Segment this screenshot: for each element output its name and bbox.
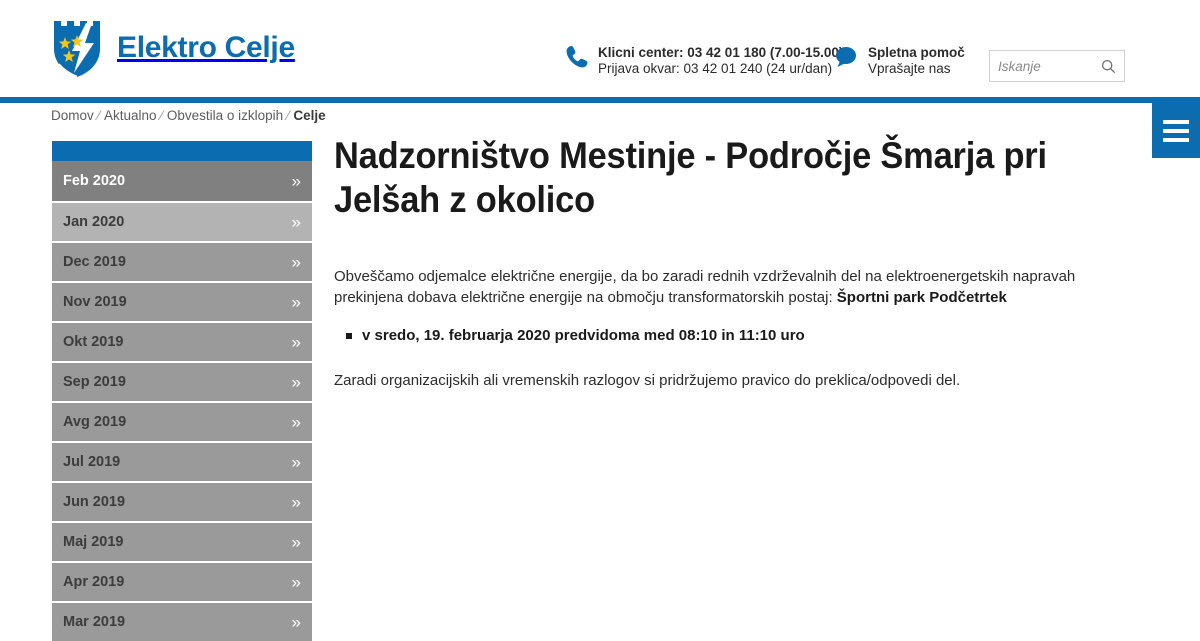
hamburger-bar-2 — [1163, 129, 1189, 133]
breadcrumb-separator: ⁄ — [161, 108, 163, 123]
breadcrumb-item-domov[interactable]: Domov — [51, 108, 94, 123]
intro-paragraph: Obveščamo odjemalce električne energije,… — [334, 266, 1146, 309]
sidebar-item-jun-2019[interactable]: Jun 2019» — [52, 481, 312, 521]
search-box[interactable] — [989, 50, 1125, 82]
sidebar-item-mar-2019[interactable]: Mar 2019» — [52, 601, 312, 641]
double-chevron-right-icon: » — [292, 294, 301, 311]
search-submit-button[interactable] — [1094, 51, 1122, 81]
online-help-title: Spletna pomoč — [868, 45, 965, 61]
hamburger-menu-button[interactable] — [1152, 103, 1200, 158]
chat-bubble-icon — [834, 44, 858, 70]
sidebar-item-label: Feb 2020 — [52, 173, 125, 189]
list-item: v sredo, 19. februarja 2020 predvidoma m… — [362, 325, 1146, 347]
sidebar-item-label: Dec 2019 — [52, 254, 126, 270]
phone-icon — [564, 44, 588, 70]
double-chevron-right-icon: » — [292, 574, 301, 591]
fault-report-line: Prijava okvar: 03 42 01 240 (24 ur/dan) — [598, 61, 843, 77]
elektro-celje-shield-icon — [50, 17, 108, 79]
header-blue-divider — [0, 97, 1200, 103]
double-chevron-right-icon: » — [292, 374, 301, 391]
sidebar-item-jan-2020[interactable]: Jan 2020» — [52, 201, 312, 241]
sidebar-item-label: Avg 2019 — [52, 414, 126, 430]
hamburger-bar-3 — [1163, 138, 1189, 142]
double-chevron-right-icon: » — [292, 334, 301, 351]
breadcrumb-item-obvestila-o-izklopih[interactable]: Obvestila o izklopih — [167, 108, 283, 123]
double-chevron-right-icon: » — [292, 173, 301, 190]
double-chevron-right-icon: » — [292, 534, 301, 551]
call-center-line: Klicni center: 03 42 01 180 (7.00-15.00) — [598, 45, 843, 61]
sidebar-item-feb-2020[interactable]: Feb 2020» — [52, 161, 312, 201]
search-icon — [1101, 59, 1116, 74]
disclaimer-paragraph: Zaradi organizacijskih ali vremenskih ra… — [334, 370, 1146, 392]
breadcrumb: Domov⁄Aktualno⁄Obvestila o izklopih⁄Celj… — [51, 108, 326, 123]
sidebar-item-label: Maj 2019 — [52, 534, 123, 550]
brand-name: Elektro Celje — [117, 31, 295, 65]
station-name: Športni park Podčetrtek — [837, 289, 1007, 306]
breadcrumb-item-aktualno[interactable]: Aktualno — [104, 108, 157, 123]
sidebar-item-apr-2019[interactable]: Apr 2019» — [52, 561, 312, 601]
sidebar-item-label: Jul 2019 — [52, 454, 120, 470]
sidebar-item-maj-2019[interactable]: Maj 2019» — [52, 521, 312, 561]
sidebar-item-sep-2019[interactable]: Sep 2019» — [52, 361, 312, 401]
site-header: Elektro Celje Klicni center: 03 42 01 18… — [0, 0, 1200, 97]
sidebar-item-okt-2019[interactable]: Okt 2019» — [52, 321, 312, 361]
sidebar-item-avg-2019[interactable]: Avg 2019» — [52, 401, 312, 441]
search-input[interactable] — [990, 51, 1094, 81]
sidebar-item-label: Okt 2019 — [52, 334, 123, 350]
sidebar-item-label: Jun 2019 — [52, 494, 125, 510]
sidebar-item-dec-2019[interactable]: Dec 2019» — [52, 241, 312, 281]
hamburger-menu-icon — [1163, 120, 1189, 124]
outage-schedule-list: v sredo, 19. februarja 2020 predvidoma m… — [334, 325, 1146, 347]
sidebar-header-bar — [52, 141, 312, 161]
archive-sidebar: Feb 2020»Jan 2020»Dec 2019»Nov 2019»Okt … — [52, 141, 312, 641]
sidebar-item-label: Sep 2019 — [52, 374, 126, 390]
breadcrumb-separator: ⁄ — [287, 108, 289, 123]
double-chevron-right-icon: » — [292, 214, 301, 231]
article-content: Nadzorništvo Mestinje - Področje Šmarja … — [334, 134, 1146, 391]
sidebar-item-nov-2019[interactable]: Nov 2019» — [52, 281, 312, 321]
sidebar-item-label: Jan 2020 — [52, 214, 124, 230]
double-chevron-right-icon: » — [292, 494, 301, 511]
sidebar-item-label: Nov 2019 — [52, 294, 127, 310]
double-chevron-right-icon: » — [292, 614, 301, 631]
breadcrumb-item-celje: Celje — [293, 108, 325, 123]
sidebar-item-jul-2019[interactable]: Jul 2019» — [52, 441, 312, 481]
sidebar-item-label: Apr 2019 — [52, 574, 124, 590]
contact-online-help[interactable]: Spletna pomoč Vprašajte nas — [834, 44, 965, 77]
double-chevron-right-icon: » — [292, 254, 301, 271]
contact-call-center[interactable]: Klicni center: 03 42 01 180 (7.00-15.00)… — [564, 44, 843, 77]
site-logo[interactable]: Elektro Celje — [50, 17, 295, 79]
breadcrumb-separator: ⁄ — [98, 108, 100, 123]
double-chevron-right-icon: » — [292, 414, 301, 431]
page-title: Nadzorništvo Mestinje - Področje Šmarja … — [334, 134, 1089, 223]
sidebar-month-list: Feb 2020»Jan 2020»Dec 2019»Nov 2019»Okt … — [52, 161, 312, 641]
double-chevron-right-icon: » — [292, 454, 301, 471]
sidebar-item-label: Mar 2019 — [52, 614, 125, 630]
online-help-subtitle: Vprašajte nas — [868, 61, 965, 77]
